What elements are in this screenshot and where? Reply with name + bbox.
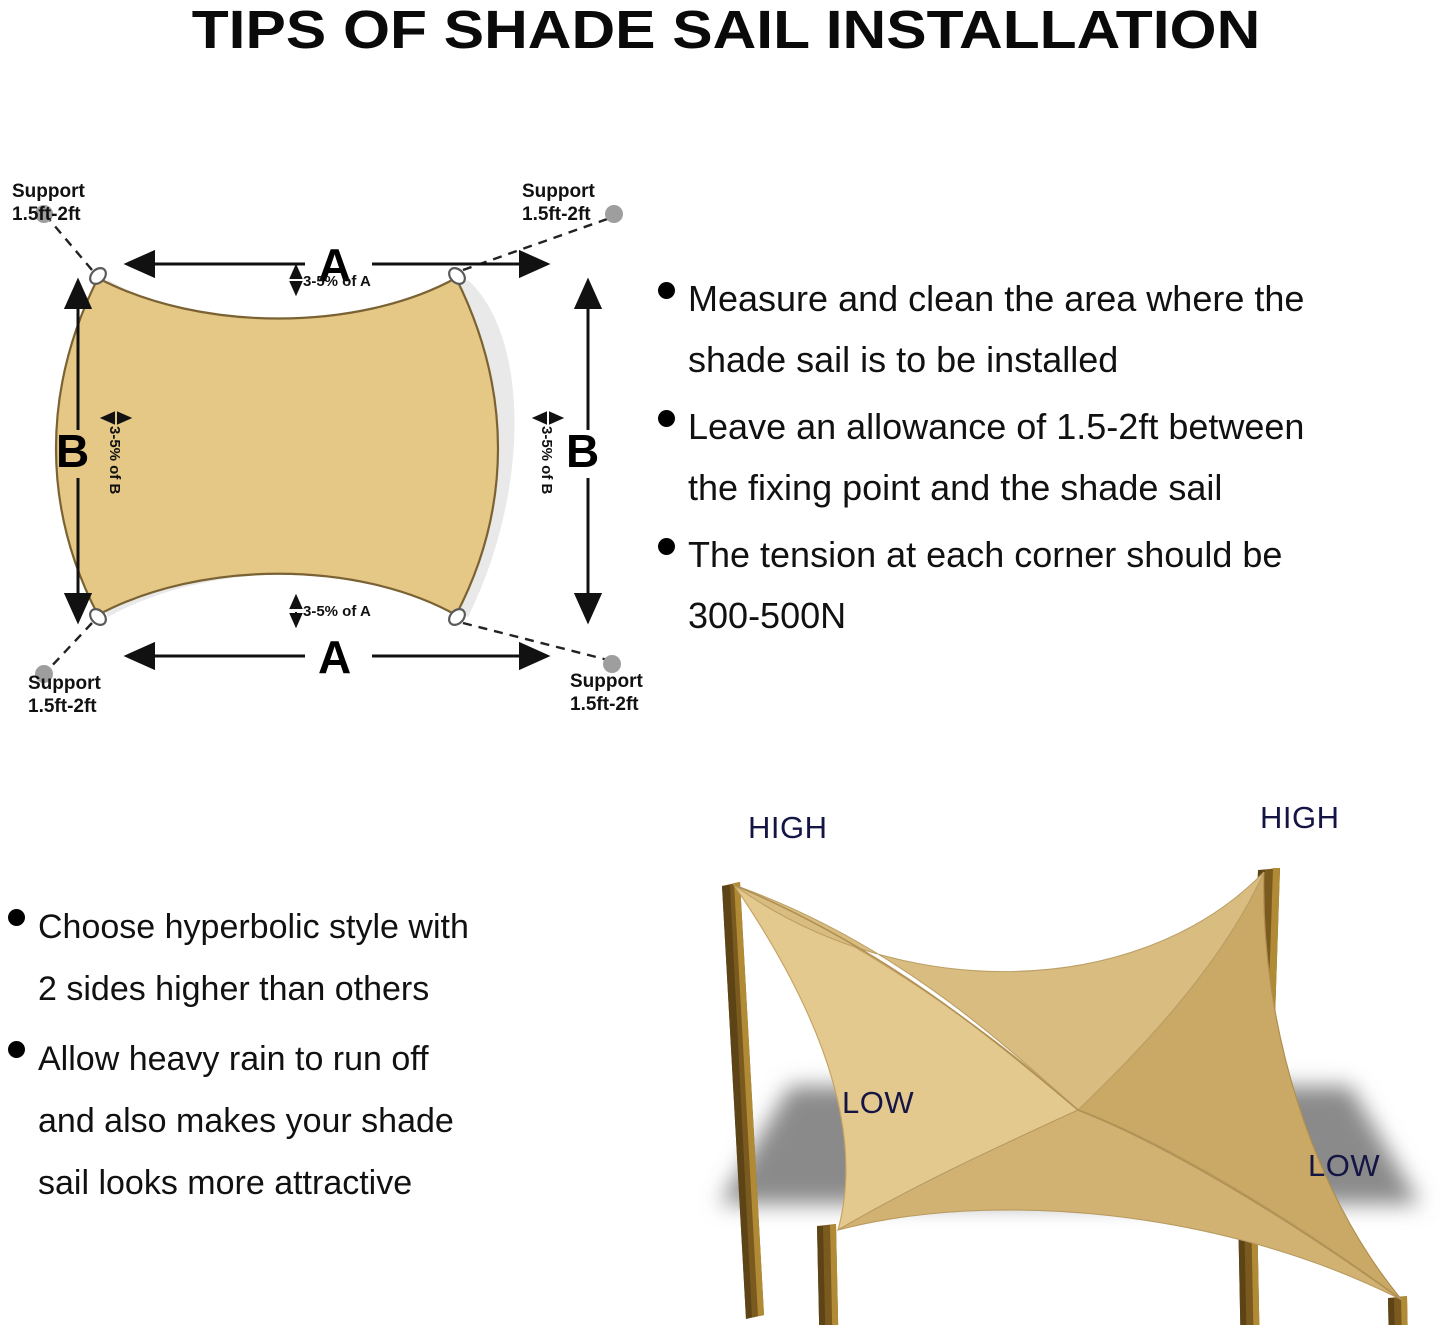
support-label-line2: 1.5ft-2ft	[522, 204, 591, 225]
support-label-top-left: Support 1.5ft-2ft	[12, 180, 85, 226]
tether-bottom-right	[463, 623, 608, 660]
hyperbolic-style-tips-list: Choose hyperbolic style with 2 sides hig…	[8, 896, 638, 1222]
list-item: Choose hyperbolic style with 2 sides hig…	[8, 896, 638, 1020]
tether-bottom-left	[48, 623, 92, 670]
bullet-dot-icon	[658, 410, 675, 427]
list-item: The tension at each corner should be 300…	[658, 524, 1452, 646]
label-high-left: HIGH	[748, 812, 828, 843]
hyperbolic-sail-illustration: HIGH HIGH LOW LOW	[660, 790, 1452, 1325]
list-item-text: Leave an allowance of 1.5-2ft between th…	[688, 396, 1304, 518]
curvature-label-bottom: 3-5% of A	[303, 604, 371, 620]
list-item: Leave an allowance of 1.5-2ft between th…	[658, 396, 1452, 518]
dimension-label-b-left: B	[56, 428, 89, 474]
support-label-line2: 1.5ft-2ft	[28, 696, 97, 717]
support-label-line1: Support	[522, 181, 595, 202]
list-item-text: The tension at each corner should be 300…	[688, 524, 1282, 646]
support-label-line1: Support	[570, 671, 643, 692]
post-high-left	[722, 882, 764, 1319]
dimension-label-b-right: B	[566, 428, 599, 474]
installation-tips-list: Measure and clean the area where the sha…	[658, 268, 1452, 652]
bullet-dot-icon	[8, 909, 25, 926]
curvature-label-left: 3-5% of B	[106, 426, 122, 494]
support-label-bottom-left: Support 1.5ft-2ft	[28, 672, 101, 718]
post-low-left	[817, 1224, 840, 1325]
support-label-line1: Support	[28, 673, 101, 694]
curvature-label-top: 3-5% of A	[303, 274, 371, 290]
bullet-dot-icon	[658, 282, 675, 299]
list-item: Measure and clean the area where the sha…	[658, 268, 1452, 390]
list-item-text: Allow heavy rain to run off and also mak…	[38, 1028, 454, 1214]
bullet-dot-icon	[658, 538, 675, 555]
support-label-line1: Support	[12, 181, 85, 202]
rectangle-sail-diagram: A A B B 3-5% of A 3-5% of A 3-5% of B 3-…	[0, 160, 680, 740]
page-title: TIPS OF SHADE SAIL INSTALLATION	[0, 0, 1452, 62]
support-dot-top-right	[605, 205, 623, 223]
support-label-line2: 1.5ft-2ft	[570, 694, 639, 715]
list-item-text: Measure and clean the area where the sha…	[688, 268, 1304, 390]
curvature-label-right: 3-5% of B	[538, 426, 554, 494]
label-low-right: LOW	[1308, 1150, 1380, 1181]
support-label-top-right: Support 1.5ft-2ft	[522, 180, 595, 226]
list-item-text: Choose hyperbolic style with 2 sides hig…	[38, 896, 469, 1020]
support-label-line2: 1.5ft-2ft	[12, 204, 81, 225]
list-item: Allow heavy rain to run off and also mak…	[8, 1028, 638, 1214]
dimension-label-a-bottom: A	[318, 634, 351, 680]
bullet-dot-icon	[8, 1041, 25, 1058]
support-label-bottom-right: Support 1.5ft-2ft	[570, 670, 643, 716]
label-high-right: HIGH	[1260, 802, 1340, 833]
label-low-left: LOW	[842, 1087, 914, 1118]
hyperbolic-sail-svg	[660, 790, 1452, 1325]
post-low-right	[1388, 1296, 1411, 1325]
